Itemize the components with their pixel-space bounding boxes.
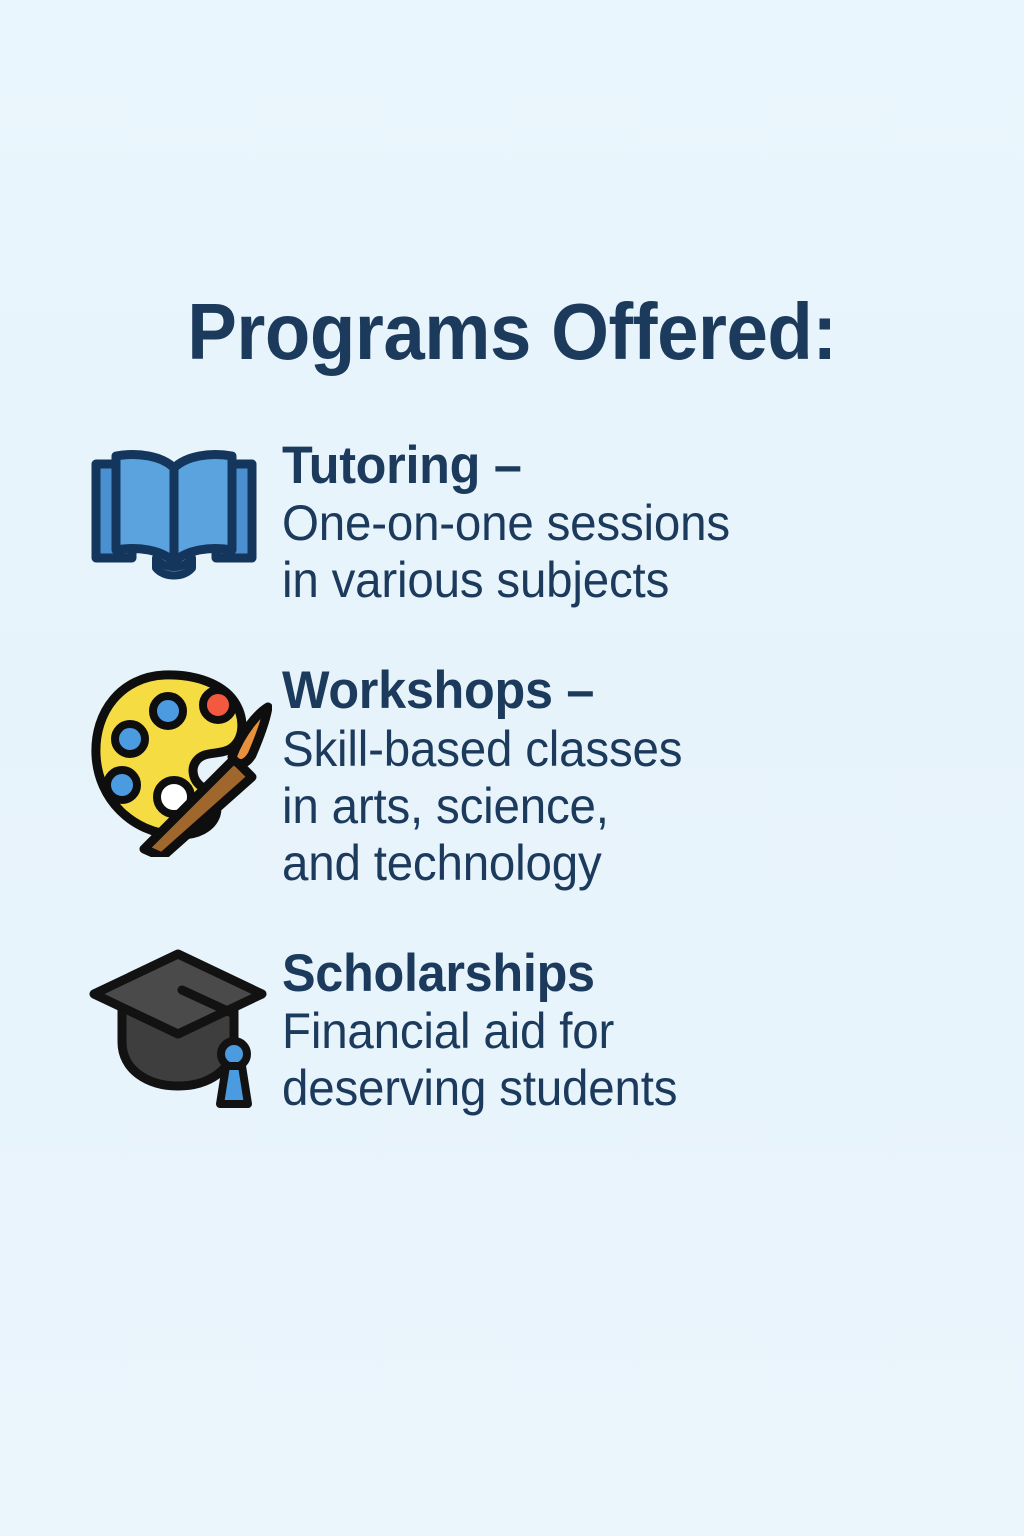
desc-line: and technology [282, 835, 987, 892]
graduation-cap-icon [86, 944, 282, 1116]
program-item-scholarships: Scholarships Financial aid for deserving… [0, 944, 1024, 1117]
desc-line: One-on-one sessions [282, 495, 987, 552]
desc-line: deserving students [282, 1060, 987, 1117]
desc-line: in various subjects [282, 552, 987, 609]
artist-palette-icon [86, 661, 282, 857]
program-item-workshops: Workshops – Skill-based classes in arts,… [0, 661, 1024, 891]
program-title-scholarships: Scholarships [282, 944, 987, 1003]
program-title-workshops: Workshops – [282, 661, 987, 720]
program-text-tutoring: Tutoring – One-on-one sessions in variou… [282, 436, 1024, 609]
desc-line: in arts, science, [282, 778, 987, 835]
program-text-workshops: Workshops – Skill-based classes in arts,… [282, 661, 1024, 891]
desc-line: Financial aid for [282, 1003, 987, 1060]
program-item-tutoring: Tutoring – One-on-one sessions in variou… [0, 436, 1024, 609]
program-text-scholarships: Scholarships Financial aid for deserving… [282, 944, 1024, 1117]
programs-list: Tutoring – One-on-one sessions in variou… [0, 436, 1024, 1117]
program-desc-scholarships: Financial aid for deserving students [282, 1003, 987, 1117]
program-desc-tutoring: One-on-one sessions in various subjects [282, 495, 987, 609]
program-title-tutoring: Tutoring – [282, 436, 987, 495]
slide-canvas: Programs Offered: Tutoring – [0, 0, 1024, 1536]
open-book-icon [86, 436, 282, 582]
desc-line: Skill-based classes [282, 721, 987, 778]
page-title: Programs Offered: [36, 292, 988, 372]
program-desc-workshops: Skill-based classes in arts, science, an… [282, 721, 987, 892]
